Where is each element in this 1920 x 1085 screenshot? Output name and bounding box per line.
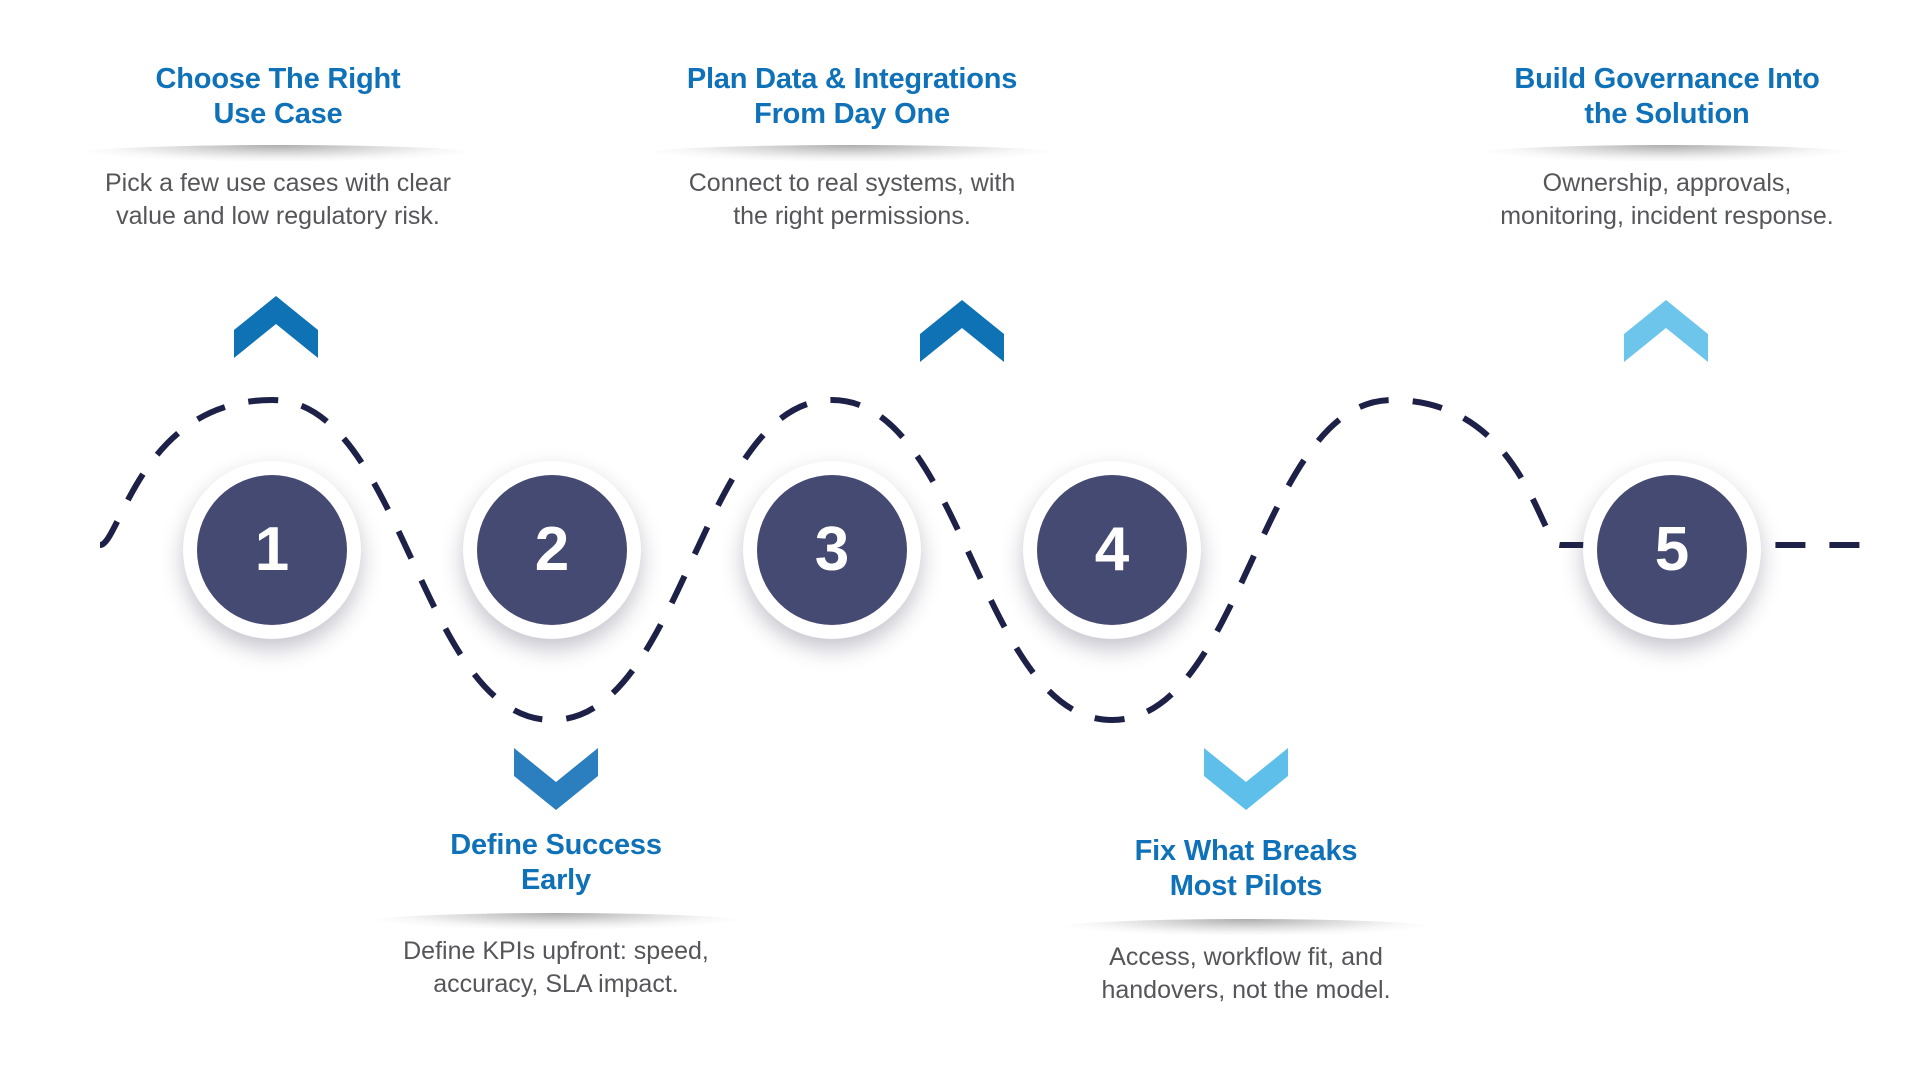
- step-4-node: 4: [1023, 461, 1201, 639]
- step-1-body: Pick a few use cases with clear value an…: [28, 167, 528, 234]
- step-5-chevron-up-icon: [1624, 300, 1708, 362]
- step-1-number: 1: [197, 475, 347, 625]
- step-4-body: Access, workflow fit, and handovers, not…: [1012, 941, 1480, 1008]
- step-5-number: 5: [1597, 475, 1747, 625]
- step-5-title-line2: the Solution: [1584, 98, 1749, 130]
- step-5-body-line1: Ownership, approvals,: [1543, 169, 1792, 197]
- step-2-title: Define Success Early: [322, 828, 790, 899]
- step-1-divider: [83, 141, 473, 163]
- step-3-title-line1: Plan Data & Integrations: [687, 63, 1017, 95]
- step-4-text-block: Fix What Breaks Most Pilots Access, work…: [1012, 834, 1480, 1008]
- step-1-body-line2: value and low regulatory risk.: [116, 202, 440, 230]
- step-2-body: Define KPIs upfront: speed, accuracy, SL…: [322, 935, 790, 1002]
- step-4-title: Fix What Breaks Most Pilots: [1012, 834, 1480, 905]
- step-4-chevron-down-icon: [1204, 748, 1288, 810]
- step-3-body-line1: Connect to real systems, with: [689, 169, 1016, 197]
- step-5-title-line1: Build Governance Into: [1514, 63, 1819, 95]
- step-2-body-line1: Define KPIs upfront: speed,: [403, 937, 709, 965]
- step-4-body-line2: handovers, not the model.: [1101, 976, 1390, 1004]
- step-2-divider: [373, 909, 738, 931]
- step-5-text-block: Build Governance Into the Solution Owner…: [1432, 62, 1902, 234]
- infographic-canvas: Choose The Right Use Case Pick a few use…: [0, 0, 1920, 1080]
- step-3-text-block: Plan Data & Integrations From Day One Co…: [592, 62, 1112, 234]
- step-3-title: Plan Data & Integrations From Day One: [592, 62, 1112, 133]
- step-1-node: 1: [183, 461, 361, 639]
- step-2-title-line2: Early: [521, 864, 591, 896]
- step-3-body: Connect to real systems, with the right …: [592, 167, 1112, 234]
- step-5-body-line2: monitoring, incident response.: [1500, 202, 1834, 230]
- step-5-body: Ownership, approvals, monitoring, incide…: [1432, 167, 1902, 234]
- step-2-title-line1: Define Success: [450, 829, 662, 861]
- step-3-number: 3: [757, 475, 907, 625]
- step-4-number: 4: [1037, 475, 1187, 625]
- step-2-body-line2: accuracy, SLA impact.: [433, 970, 678, 998]
- step-4-title-line2: Most Pilots: [1170, 870, 1322, 902]
- step-5-divider: [1484, 141, 1851, 163]
- step-4-divider: [1063, 915, 1428, 937]
- step-5-node: 5: [1583, 461, 1761, 639]
- step-5-title: Build Governance Into the Solution: [1432, 62, 1902, 133]
- step-3-body-line2: the right permissions.: [733, 202, 971, 230]
- step-3-divider: [649, 141, 1055, 163]
- step-1-title: Choose The Right Use Case: [28, 62, 528, 133]
- step-1-body-line1: Pick a few use cases with clear: [105, 169, 451, 197]
- step-2-text-block: Define Success Early Define KPIs upfront…: [322, 828, 790, 1002]
- step-2-chevron-down-icon: [514, 748, 598, 810]
- step-1-text-block: Choose The Right Use Case Pick a few use…: [28, 62, 528, 234]
- step-2-number: 2: [477, 475, 627, 625]
- step-2-node: 2: [463, 461, 641, 639]
- step-1-title-line2: Use Case: [214, 98, 343, 130]
- step-1-chevron-up-icon: [234, 296, 318, 358]
- step-1-title-line1: Choose The Right: [156, 63, 401, 95]
- step-3-title-line2: From Day One: [754, 98, 950, 130]
- step-3-chevron-up-icon: [920, 300, 1004, 362]
- step-4-body-line1: Access, workflow fit, and: [1109, 943, 1383, 971]
- step-3-node: 3: [743, 461, 921, 639]
- step-4-title-line1: Fix What Breaks: [1135, 835, 1358, 867]
